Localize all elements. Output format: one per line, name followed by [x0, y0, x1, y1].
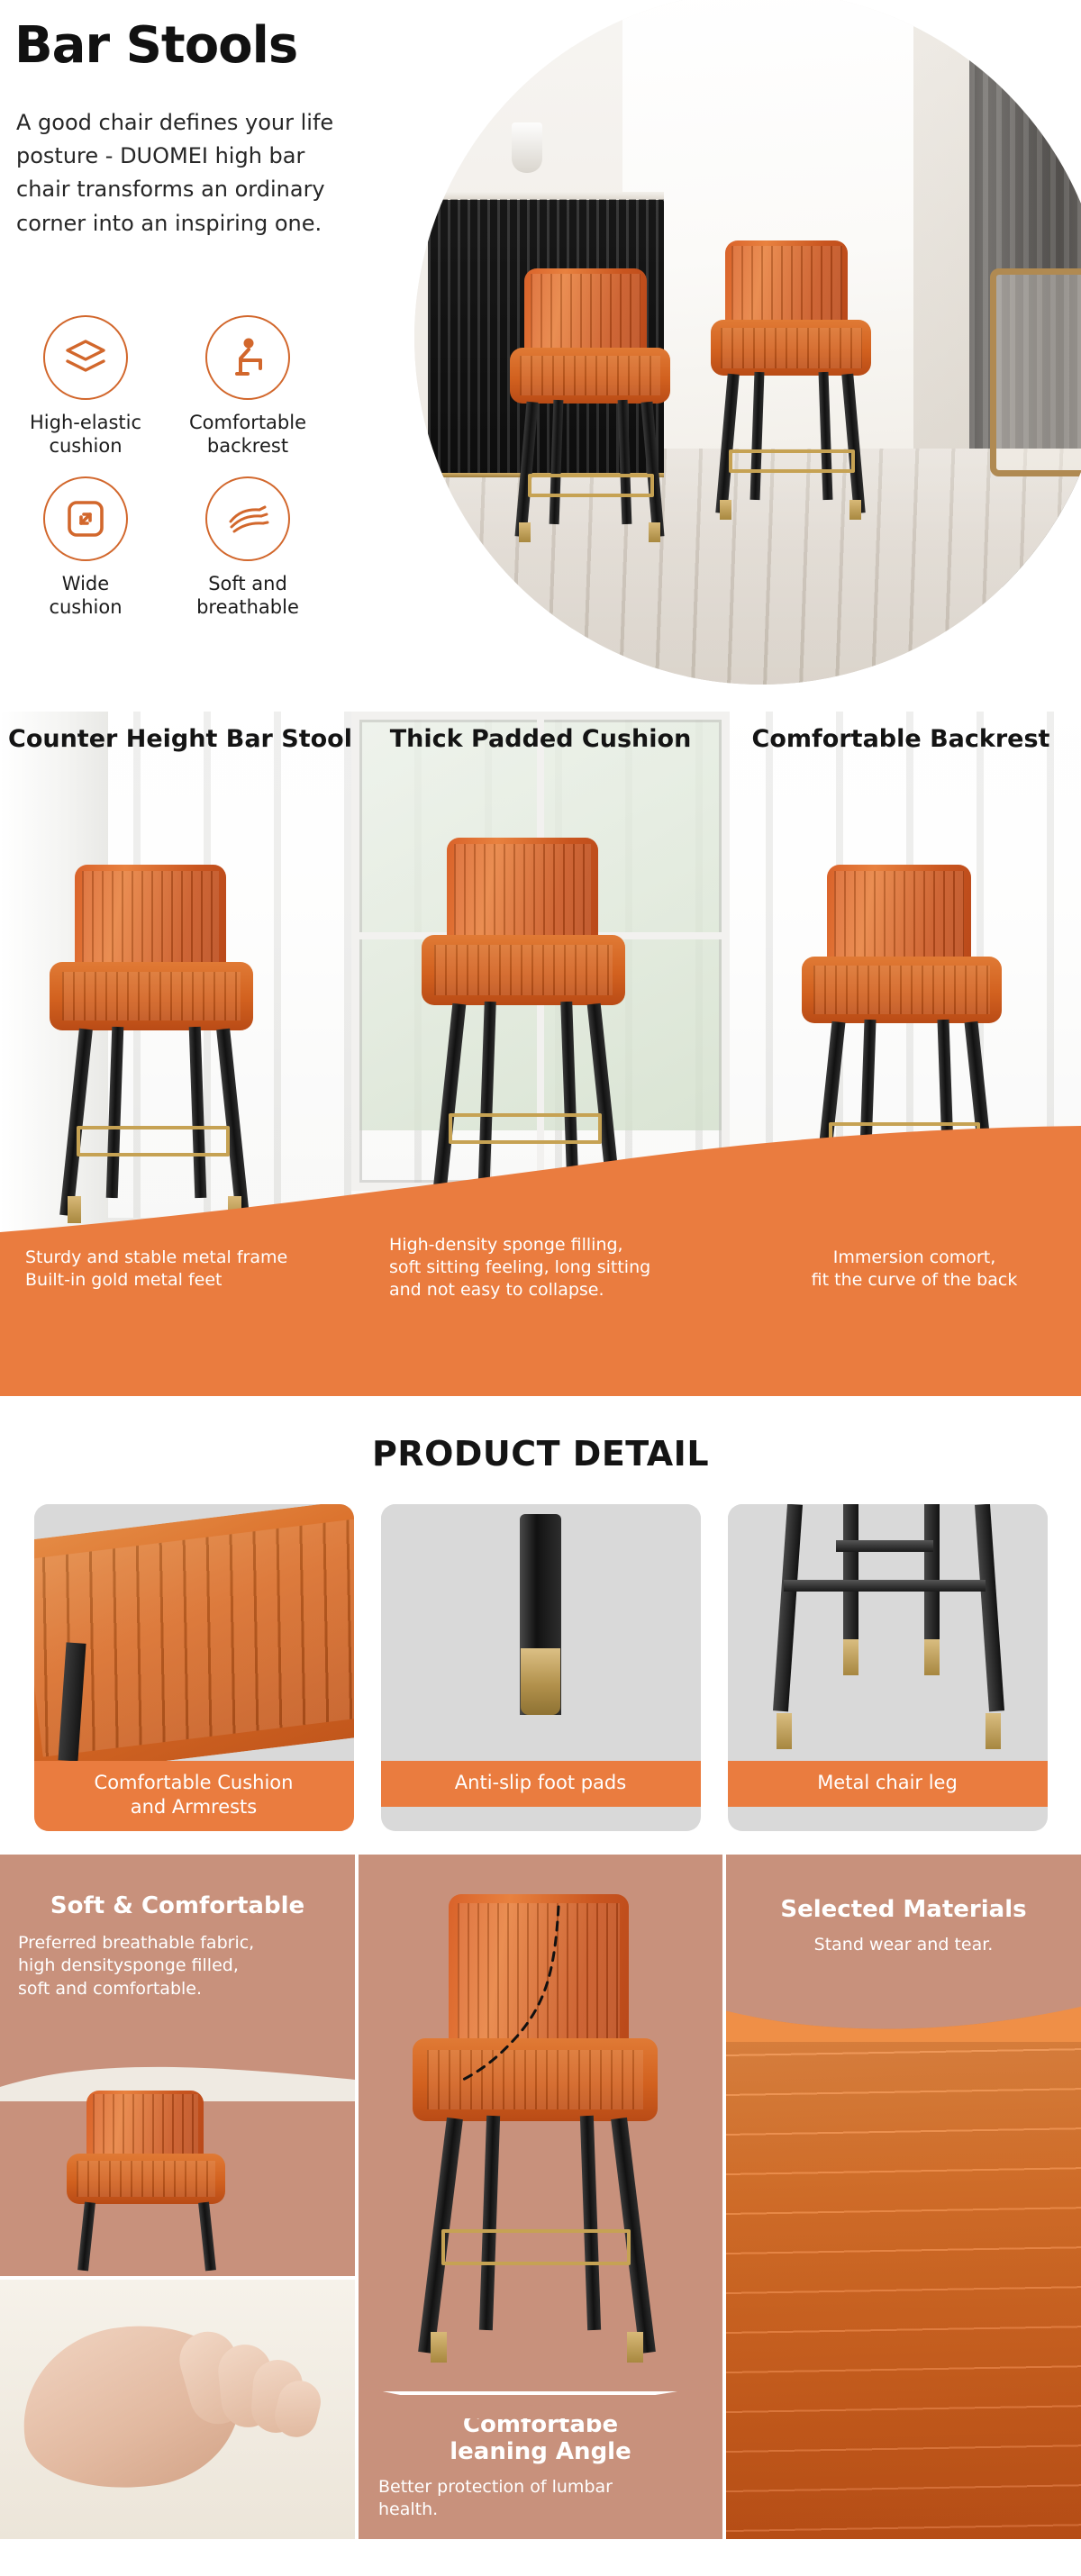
feature-label: Comfortable backrest	[171, 411, 324, 458]
feature-high-elastic-cushion: High-elastic cushion	[9, 315, 162, 458]
detail-card-cushion[interactable]: Comfortable Cushion and Armrests	[34, 1504, 354, 1831]
bottom-mosaic-section: Soft & Comfortable Preferred breathable …	[0, 1855, 1081, 2539]
fabric-texture-image	[726, 2015, 1081, 2539]
detail-card-caption: Metal chair leg	[728, 1761, 1048, 1807]
mosaic-left-stool-image	[0, 2060, 355, 2276]
hero-stool-right	[705, 240, 877, 520]
trio-heading-2: Thick Padded Cushion	[360, 725, 721, 753]
three-stool-section: Counter Height Bar Stool Thick Padded Cu…	[0, 712, 1081, 1396]
trio-caption-2: High-density sponge filling, soft sittin…	[389, 1234, 731, 1302]
mosaic-left-body: Preferred breathable fabric, high densit…	[18, 1932, 337, 2001]
hero-subtitle: A good chair defines your life posture -…	[16, 106, 359, 240]
mosaic-leaning-angle-image	[359, 1855, 722, 2391]
detail-card-row: Comfortable Cushion and Armrests Anti-sl…	[0, 1504, 1081, 1831]
detail-card-caption: Anti-slip foot pads	[381, 1761, 701, 1807]
foot-pad-closeup-image	[381, 1504, 701, 1761]
section-title-product-detail: PRODUCT DETAIL	[0, 1434, 1081, 1474]
layers-cushion-icon	[43, 315, 128, 400]
mosaic-right-heading: Selected Materials	[726, 1896, 1081, 1923]
metal-leg-closeup-image	[728, 1504, 1048, 1761]
trio-heading-3: Comfortable Backrest	[721, 725, 1081, 753]
feature-label: High-elastic cushion	[9, 411, 162, 458]
mosaic-right-body: Stand wear and tear.	[726, 1934, 1081, 1957]
feature-wide-cushion: Wide cushion	[9, 476, 162, 620]
mosaic-middle-body: Better protection of lumbar health.	[378, 2476, 703, 2522]
mosaic-hand-foam-image	[0, 2280, 355, 2539]
trio-caption-1: Sturdy and stable metal frame Built-in g…	[25, 1247, 359, 1292]
page-title: Bar Stools	[14, 16, 297, 75]
mosaic-left-heading: Soft & Comfortable	[0, 1892, 355, 1919]
detail-card-caption: Comfortable Cushion and Armrests	[34, 1761, 354, 1831]
feature-soft-breathable: Soft and breathable	[171, 476, 324, 620]
mosaic-soft-comfortable-panel: Soft & Comfortable Preferred breathable …	[0, 1855, 355, 2276]
feature-label: Soft and breathable	[171, 572, 324, 620]
cushion-closeup-image	[34, 1504, 354, 1761]
hero-section: Bar Stools A good chair defines your lif…	[0, 0, 1081, 712]
feature-icon-grid: High-elastic cushion Comfortable backres…	[9, 315, 324, 619]
feature-label: Wide cushion	[9, 572, 162, 620]
hero-room-photo	[414, 0, 1081, 685]
mosaic-selected-materials-panel: Selected Materials Stand wear and tear.	[726, 1855, 1081, 2539]
detail-card-metal-leg[interactable]: Metal chair leg	[728, 1504, 1048, 1831]
expand-arrows-icon	[43, 476, 128, 561]
hero-stool-left	[504, 268, 676, 539]
hand-fabric-icon	[205, 476, 290, 561]
product-detail-section: PRODUCT DETAIL Comfortable Cushion and A…	[0, 1396, 1081, 1855]
mosaic-middle-text-panel: Comfortabe leaning Angle Better protecti…	[359, 2395, 722, 2539]
trio-heading-1: Counter Height Bar Stool	[0, 725, 360, 753]
product-detail-page: Bar Stools A good chair defines your lif…	[0, 0, 1081, 2539]
mosaic-middle-heading: Comfortabe leaning Angle	[359, 2411, 722, 2465]
seated-person-icon	[205, 315, 290, 400]
feature-comfortable-backrest: Comfortable backrest	[171, 315, 324, 458]
trio-caption-3: Immersion comort, fit the curve of the b…	[757, 1247, 1072, 1292]
detail-card-foot-pad[interactable]: Anti-slip foot pads	[381, 1504, 701, 1831]
